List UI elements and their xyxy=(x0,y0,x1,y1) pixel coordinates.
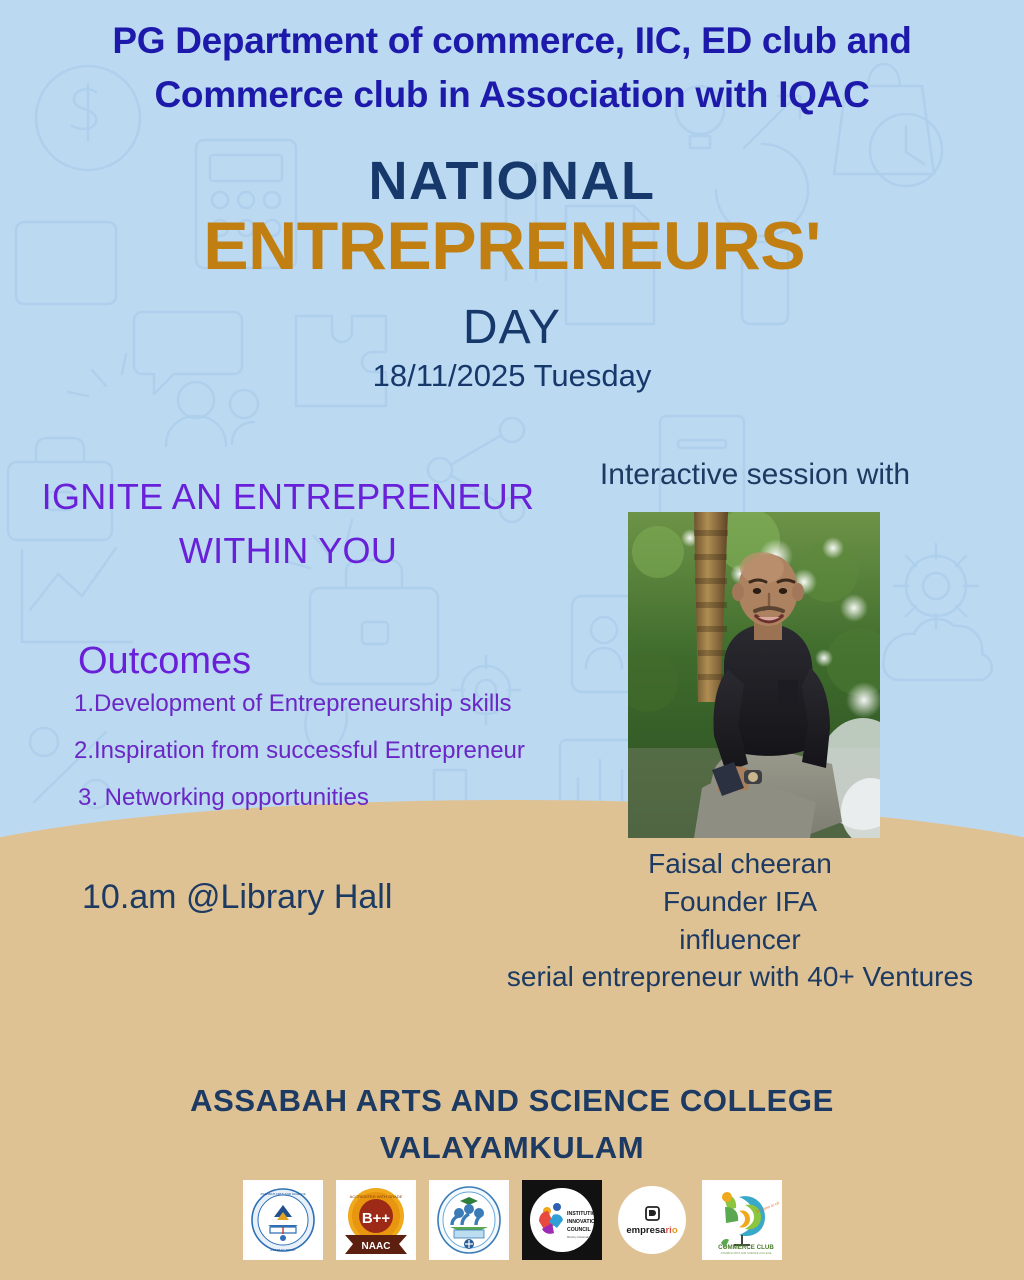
svg-text:Ministry of Education: Ministry of Education xyxy=(567,1235,592,1239)
svg-text:ACCREDITED WITH GRADE: ACCREDITED WITH GRADE xyxy=(349,1194,402,1199)
organiser-line-2: Commerce club in Association with IQAC xyxy=(0,68,1024,122)
event-poster: PG Department of commerce, IIC, ED club … xyxy=(0,0,1024,1280)
title-entrepreneurs: ENTREPRENEURS' xyxy=(0,207,1024,285)
svg-text:ASSABAH ARTS AND SCIENCE COLLE: ASSABAH ARTS AND SCIENCE COLLEGE xyxy=(720,1251,771,1255)
speaker-description: serial entrepreneur with 40+ Ventures xyxy=(460,958,1020,996)
logo-row: ASSABAH ARTS AND SCIENCE ASSABAH TRUST B… xyxy=(0,1180,1024,1260)
svg-text:COUNCIL: COUNCIL xyxy=(567,1227,591,1233)
svg-text:NAAC: NAAC xyxy=(361,1241,390,1252)
svg-text:INSTITUTION'S: INSTITUTION'S xyxy=(567,1211,599,1217)
organiser-header: PG Department of commerce, IIC, ED club … xyxy=(0,14,1024,121)
assabah-college-seal-logo: ASSABAH ARTS AND SCIENCE ASSABAH TRUST xyxy=(243,1180,323,1260)
organiser-line-1: PG Department of commerce, IIC, ED club … xyxy=(0,14,1024,68)
speaker-role: Founder IFA xyxy=(460,883,1020,921)
speaker-tag: influencer xyxy=(460,921,1020,959)
college-line-1: ASSABAH ARTS AND SCIENCE COLLEGE xyxy=(0,1078,1024,1125)
outcomes-list: 1.Development of Entrepreneurship skills… xyxy=(74,692,634,833)
outcome-item: 1.Development of Entrepreneurship skills xyxy=(74,692,634,716)
commerce-club-logo: It’s time to change COMMERCE CLUB ASSABA… xyxy=(702,1180,782,1260)
outcome-item: 2.Inspiration from successful Entreprene… xyxy=(74,739,634,763)
svg-text:INNOVATION: INNOVATION xyxy=(567,1219,599,1225)
speaker-info: Faisal cheeran Founder IFA influencer se… xyxy=(460,845,1020,996)
svg-text:empresario: empresario xyxy=(626,1225,677,1236)
svg-text:ASSABAH ARTS AND SCIENCE: ASSABAH ARTS AND SCIENCE xyxy=(260,1192,305,1196)
speaker-photo xyxy=(628,512,880,838)
svg-text:ASSABAH TRUST: ASSABAH TRUST xyxy=(270,1248,296,1252)
outcomes-heading: Outcomes xyxy=(78,640,251,683)
title-day: DAY xyxy=(0,300,1024,355)
event-date: 18/11/2025 Tuesday xyxy=(0,358,1024,394)
institutions-innovation-council-logo: INSTITUTION'S INNOVATION COUNCIL Ministr… xyxy=(522,1180,602,1260)
session-label: Interactive session with xyxy=(565,458,945,492)
venue-and-time: 10.am @Library Hall xyxy=(82,878,392,917)
outcome-item: 3. Networking opportunities xyxy=(74,786,634,810)
college-name: ASSABAH ARTS AND SCIENCE COLLEGE VALAYAM… xyxy=(0,1078,1024,1171)
empresario-logo: empresario xyxy=(615,1183,689,1257)
event-tagline: IGNITE AN ENTREPRENEUR WITHIN YOU xyxy=(18,470,558,578)
naac-accreditation-logo: B++ ACCREDITED WITH GRADE NAAC xyxy=(336,1180,416,1260)
svg-text:COMMERCE CLUB: COMMERCE CLUB xyxy=(718,1244,774,1251)
svg-text:B++: B++ xyxy=(361,1210,390,1227)
college-line-2: VALAYAMKULAM xyxy=(0,1125,1024,1172)
university-emblem-logo xyxy=(429,1180,509,1260)
title-national: NATIONAL xyxy=(0,150,1024,212)
speaker-name: Faisal cheeran xyxy=(460,845,1020,883)
